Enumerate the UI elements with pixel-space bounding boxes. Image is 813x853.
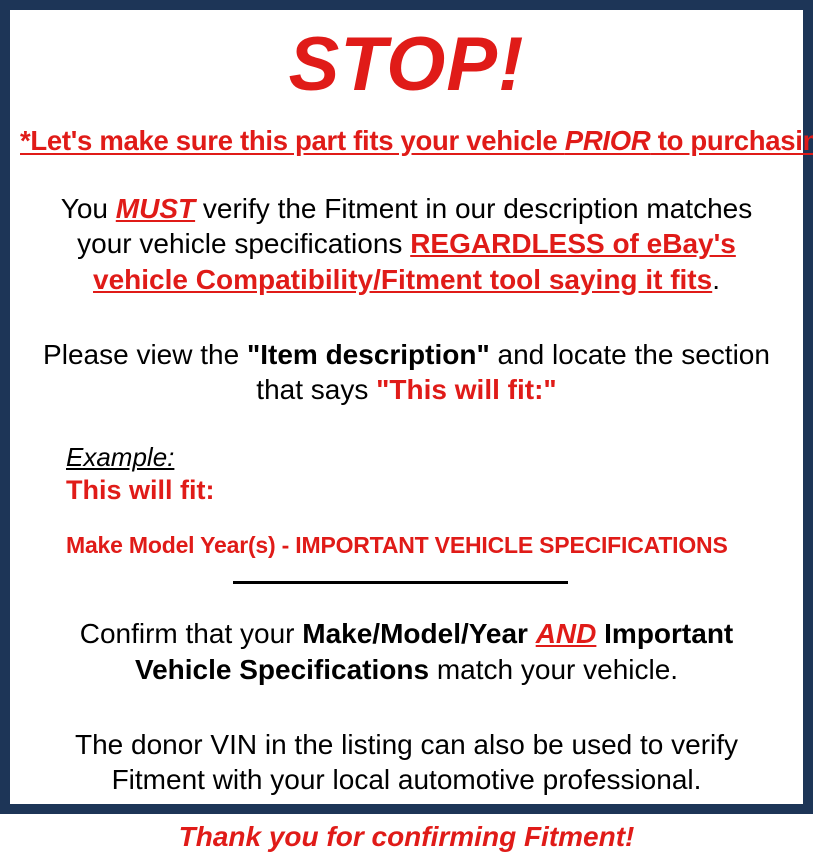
paragraph-donor-vin: The donor VIN in the listing can also be… xyxy=(20,727,793,798)
example-label: Example: xyxy=(66,443,793,472)
confirm-text-part3 xyxy=(596,618,604,649)
example-fit-heading: This will fit: xyxy=(66,474,793,506)
stop-headline: STOP! xyxy=(20,27,793,103)
confirm-text-part4: match your vehicle. xyxy=(429,654,678,685)
fitment-warning-notice: STOP! *Let's make sure this part fits yo… xyxy=(0,0,813,814)
example-block: Example: This will fit: Make Model Year(… xyxy=(20,443,793,559)
desc-text-part1: Please view the xyxy=(43,339,247,370)
paragraph-confirm: Confirm that your Make/Model/Year AND Im… xyxy=(20,616,793,687)
item-description-emphasis: "Item description" xyxy=(247,339,490,370)
must-emphasis: MUST xyxy=(116,193,195,224)
subtitle-line: *Let's make sure this part fits your veh… xyxy=(20,125,793,157)
and-emphasis: AND xyxy=(536,618,597,649)
notice-content: STOP! *Let's make sure this part fits yo… xyxy=(10,27,803,821)
paragraph-item-description: Please view the "Item description" and l… xyxy=(20,337,793,408)
example-spec-line: Make Model Year(s) - IMPORTANT VEHICLE S… xyxy=(66,532,793,559)
divider-wrapper xyxy=(20,581,793,591)
confirm-text-part2 xyxy=(528,618,536,649)
must-text-part1: You xyxy=(61,193,116,224)
make-model-year-emphasis: Make/Model/Year xyxy=(302,618,528,649)
horizontal-divider xyxy=(233,581,568,584)
thank-you-line: Thank you for confirming Fitment! xyxy=(20,821,793,853)
paragraph-must-verify: You MUST verify the Fitment in our descr… xyxy=(20,191,793,297)
subtitle-emphasis-prior: PRIOR xyxy=(565,125,651,156)
must-text-part3: . xyxy=(712,264,720,295)
this-will-fit-emphasis: "This will fit:" xyxy=(376,374,557,405)
subtitle-text-after: to purchasing* xyxy=(650,125,813,156)
subtitle-text-before: *Let's make sure this part fits your veh… xyxy=(20,125,565,156)
confirm-text-part1: Confirm that your xyxy=(80,618,303,649)
